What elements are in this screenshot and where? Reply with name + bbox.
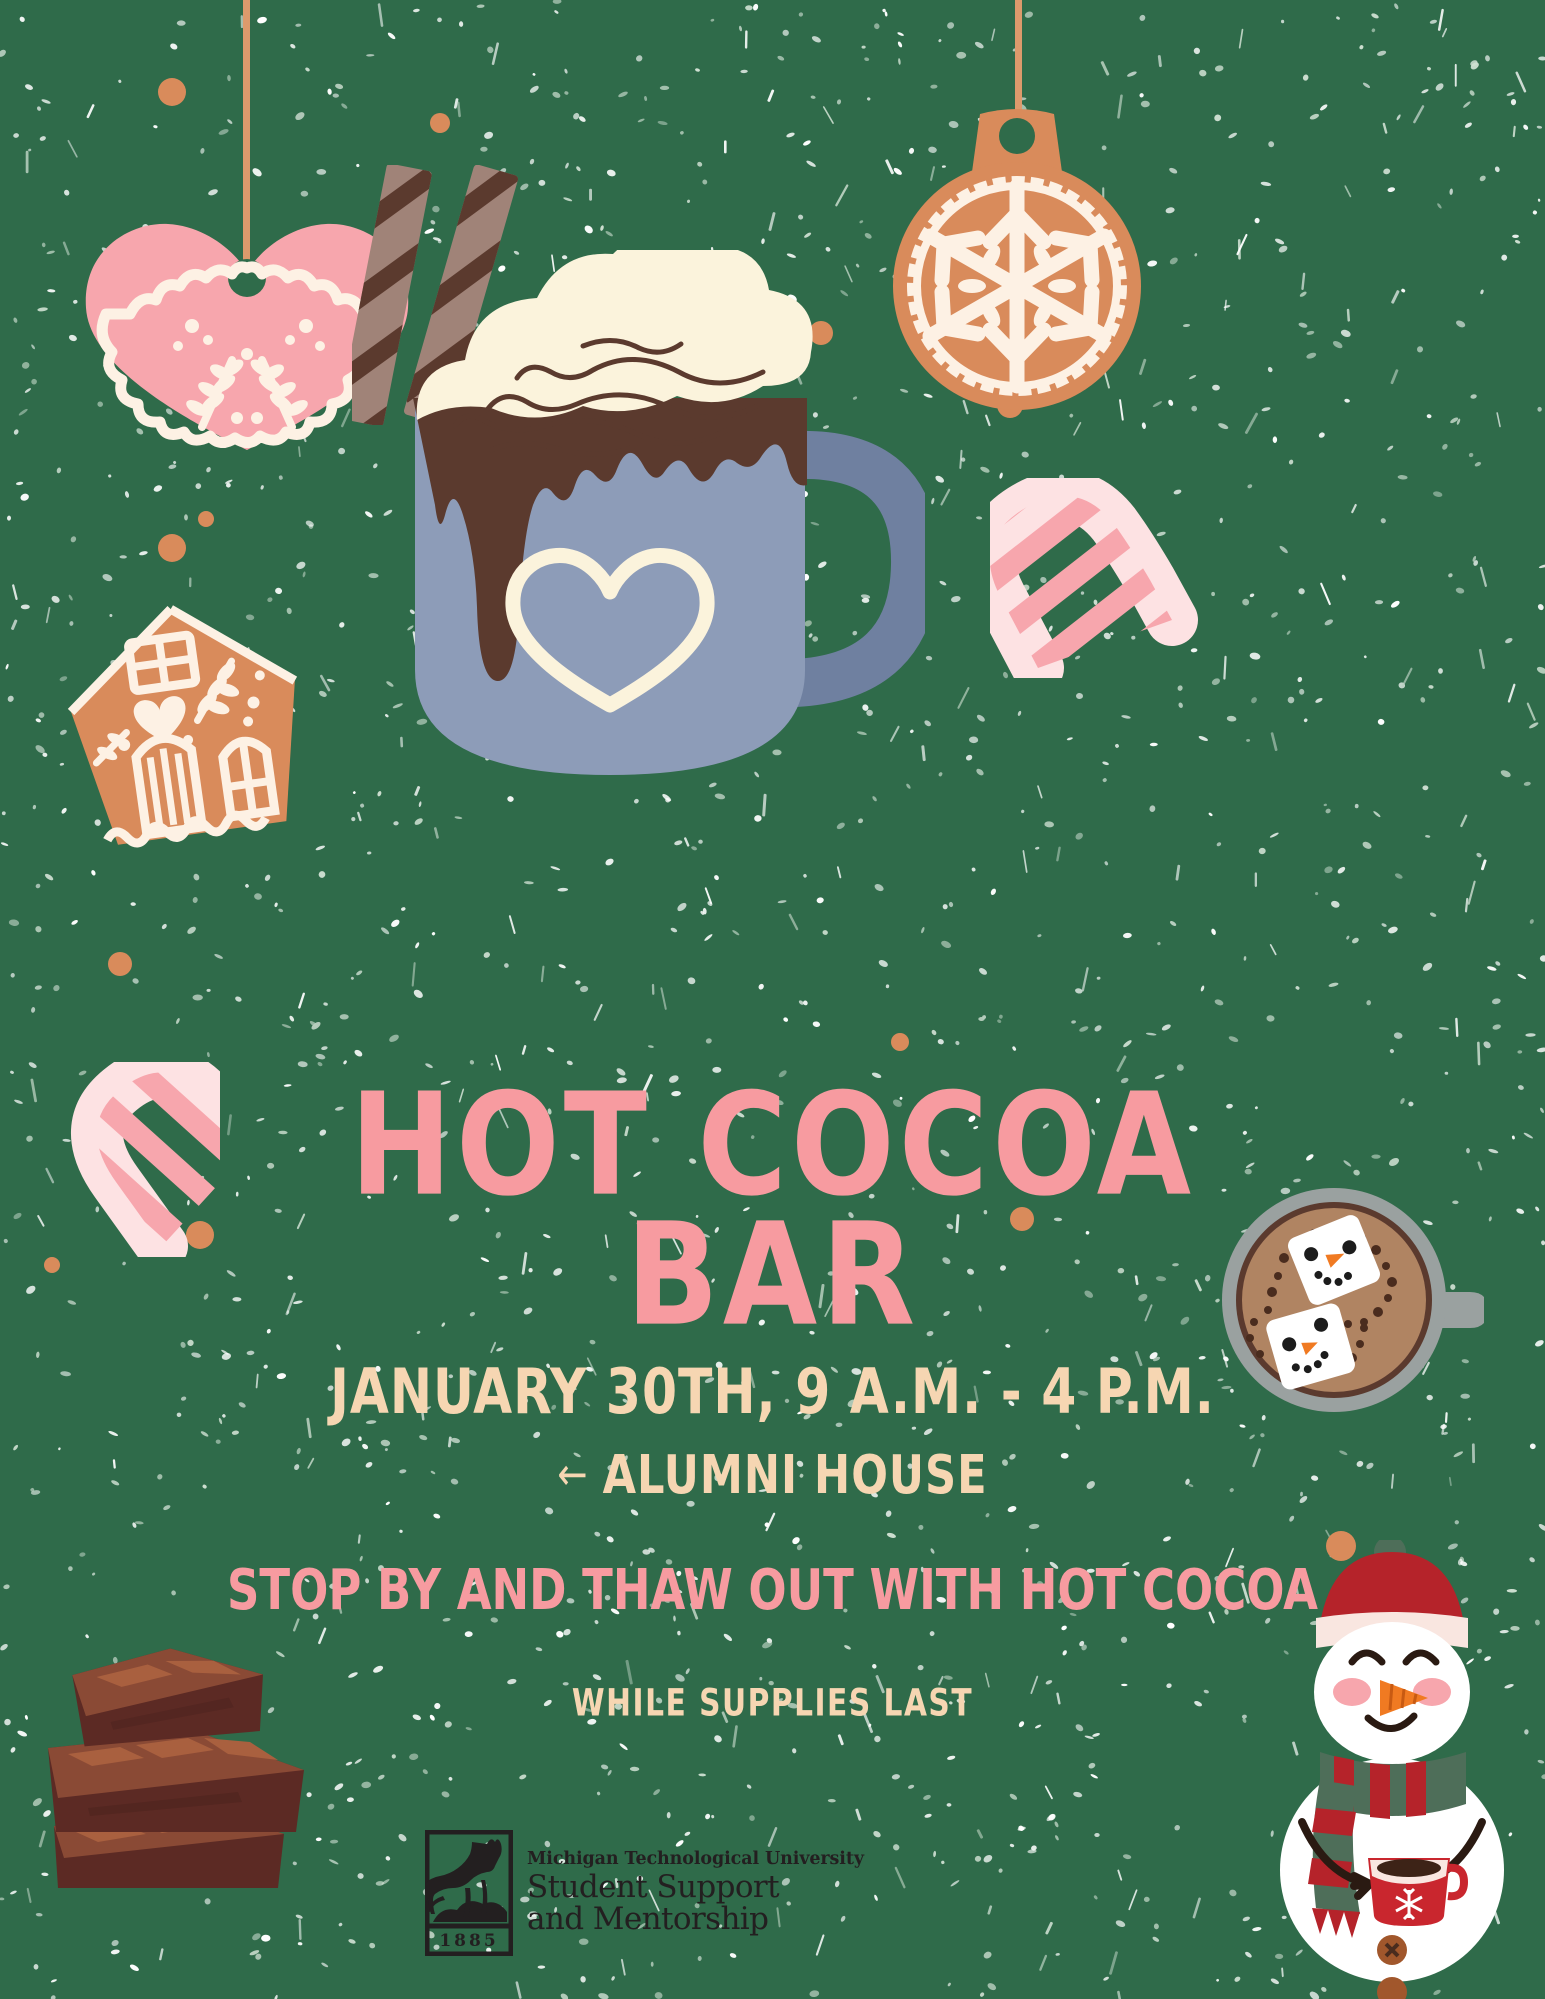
title-line-2: BAR xyxy=(0,1210,1545,1340)
husky-wolf-icon: 1885 xyxy=(425,1830,513,1956)
mtu-student-support-logo: 1885 Michigan Technological University S… xyxy=(425,1830,864,1956)
logo-unit-line-1: Student Support xyxy=(527,1872,864,1904)
event-location-row: ← ALUMNI HOUSE xyxy=(0,1444,1545,1507)
cocoa-mug-with-whipped-cream-icon xyxy=(395,250,925,820)
event-tagline: STOP BY AND THAW OUT WITH HOT COCOA xyxy=(0,1558,1545,1623)
event-location: ALUMNI HOUSE xyxy=(603,1444,988,1507)
logo-unit-line-2: and Mentorship xyxy=(527,1904,864,1936)
candy-cane-icon-right xyxy=(990,478,1200,678)
flyer-text-block: HOT COCOA BAR JANUARY 30TH, 9 A.M. - 4 P… xyxy=(0,1080,1545,1722)
page-title: HOT COCOA BAR xyxy=(0,1080,1545,1340)
logo-university-name: Michigan Technological University xyxy=(527,1851,864,1869)
poster-canvas: HOT COCOA BAR JANUARY 30TH, 9 A.M. - 4 P… xyxy=(0,0,1545,1999)
arrow-left-icon: ← xyxy=(557,1450,588,1502)
crest-year: 1885 xyxy=(439,1931,498,1951)
gingerbread-house-icon xyxy=(62,600,312,850)
event-date-time: JANUARY 30TH, 9 A.M. - 4 P.M. xyxy=(0,1357,1545,1430)
event-disclaimer: WHILE SUPPLIES LAST xyxy=(0,1681,1545,1725)
logo-wordmark: Michigan Technological University Studen… xyxy=(527,1851,864,1936)
